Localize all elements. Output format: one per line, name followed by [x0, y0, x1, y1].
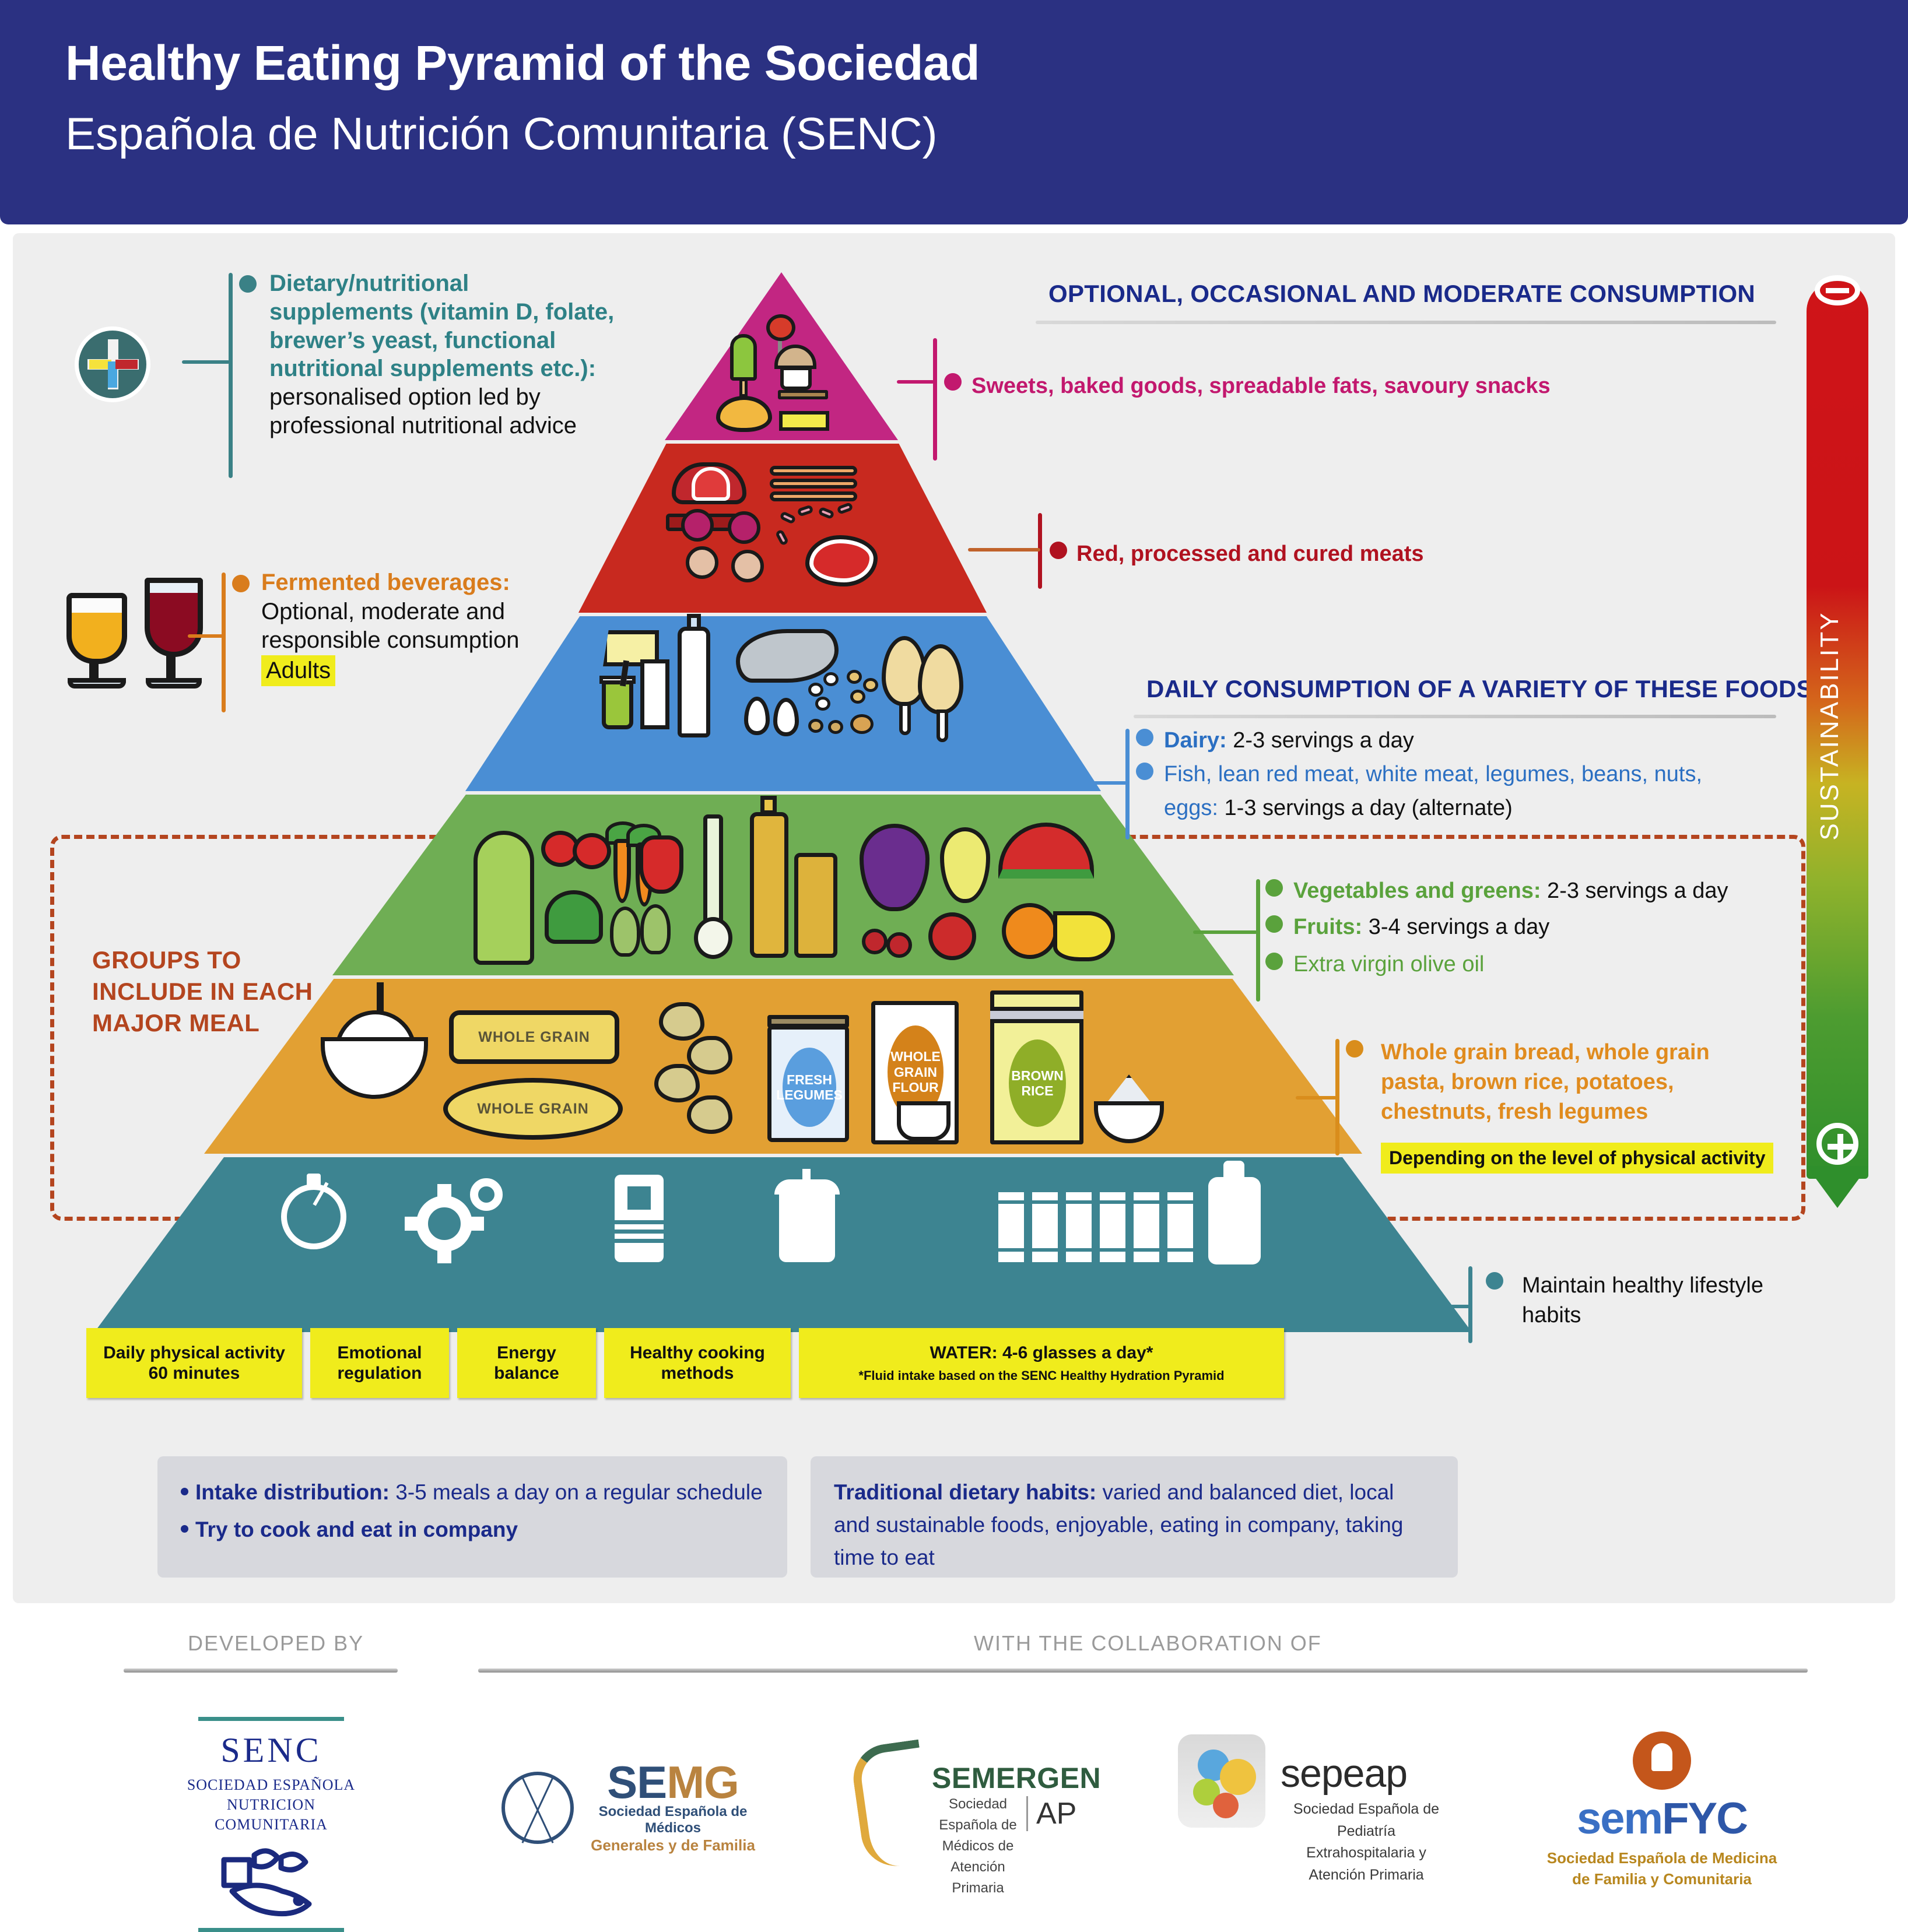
label-grains: Whole grain bread, whole grain pasta, br…: [1381, 1038, 1777, 1127]
logo-semergen-sub: Sociedad Española de Médicos de Atención…: [934, 1794, 1022, 1899]
page-subtitle: Española de Nutrición Comunitaria (SENC): [65, 107, 1908, 161]
lifestyle-bullet-dot: [1486, 1272, 1503, 1290]
note-bullet-2: [181, 1525, 188, 1533]
label-protein-line2: eggs: 1-3 servings a day (alternate): [1164, 794, 1513, 823]
label-sweets: Sweets, baked goods, spreadable fats, sa…: [971, 372, 1551, 401]
label-red-meats: Red, processed and cured meats: [1076, 540, 1424, 568]
label-protein-line1: Fish, lean red meat, white meat, legumes…: [1164, 760, 1702, 789]
vegetables-connector-vertical: [1256, 879, 1260, 1002]
logo-sepeap-sub: Sociedad Española de Pediatría Extrahosp…: [1282, 1798, 1451, 1886]
logo-semg-sub2: Generales y de Familia: [582, 1836, 764, 1854]
vegetables-bullet-dot: [1265, 879, 1283, 897]
page-title: Healthy Eating Pyramid of the Sociedad: [65, 35, 1908, 92]
olive-oil-bullet-dot: [1265, 953, 1283, 970]
lifestyle-connector-horizontal: [1402, 1305, 1469, 1308]
logo-sepeap[interactable]: sepeap Sociedad Española de Pediatría Ex…: [1178, 1734, 1446, 1868]
dairy-bullet-dot: [1136, 729, 1153, 746]
whole-grain-bread-label-1: WHOLE GRAIN: [449, 1010, 619, 1064]
logo-semergen-ap: AP: [1026, 1796, 1076, 1831]
sustainability-scale: SUSTAINABILITY: [1807, 268, 1868, 1218]
label-lifestyle: Maintain healthy lifestyle habits: [1522, 1271, 1767, 1330]
logo-semg-sub1: Sociedad Española de Médicos: [582, 1804, 764, 1836]
food-pyramid: WHOLE GRAIN WHOLE GRAIN FRESHLEGUMES WHO…: [140, 265, 1411, 1408]
whole-grain-bread-label-2: WHOLE GRAIN: [443, 1078, 623, 1140]
logo-semfyc-sub: Sociedad Española de Medicina de Familia…: [1545, 1847, 1779, 1890]
stopwatch-icon: [281, 1184, 346, 1249]
logo-senc-subtitle: SOCIEDAD ESPAÑOLA NUTRICION COMUNITARIA: [187, 1775, 356, 1834]
logo-semfyc-title-a: sem: [1577, 1794, 1662, 1843]
base-label-physical-activity[interactable]: Daily physical activity60 minutes: [86, 1328, 302, 1398]
base-label-cooking-methods[interactable]: Healthy cookingmethods: [604, 1328, 791, 1398]
pyramid-tier-grains[interactable]: WHOLE GRAIN WHOLE GRAIN FRESHLEGUMES WHO…: [204, 979, 1362, 1154]
logo-semfyc[interactable]: semFYC Sociedad Española de Medicina de …: [1545, 1731, 1779, 1890]
sustainability-label: SUSTAINABILITY: [1815, 318, 1844, 1134]
supplement-cross-icon: [75, 326, 150, 402]
pyramid-tier-dairy-protein[interactable]: [465, 616, 1101, 791]
sweets-food-icons: [706, 308, 857, 431]
vegetables-connector-horizontal: [1193, 930, 1257, 934]
pyramid-tier-red-meat[interactable]: [578, 444, 987, 613]
logo-sepeap-title: sepeap: [1281, 1751, 1407, 1796]
fruits-bullet-dot: [1265, 915, 1283, 933]
senc-fish-icon: [216, 1842, 327, 1918]
note-intake-distribution: Intake distribution: 3-5 meals a day on …: [157, 1456, 787, 1578]
grains-food-icons: WHOLE GRAIN WHOLE GRAIN FRESHLEGUMES WHO…: [321, 987, 1248, 1150]
lifestyle-label-row: Daily physical activity60 minutes Emotio…: [86, 1328, 1293, 1398]
logo-semg-title-a: SE: [607, 1757, 667, 1808]
divider-optional: [1036, 321, 1776, 324]
protein-bullet-dot: [1136, 763, 1153, 780]
logo-senc-title: SENC: [187, 1730, 356, 1771]
note-bullet-1: [181, 1488, 188, 1495]
logo-senc[interactable]: SENC SOCIEDAD ESPAÑOLA NUTRICION COMUNIT…: [187, 1717, 356, 1932]
grains-connector-horizontal: [1296, 1096, 1337, 1100]
semg-globe-icon: [501, 1772, 574, 1844]
grains-note-highlight: Depending on the level of physical activ…: [1381, 1143, 1773, 1174]
sweets-connector-vertical: [933, 338, 937, 461]
divider-daily: [1134, 715, 1776, 718]
grains-bullet-dot: [1346, 1040, 1363, 1058]
water-glasses-icon: [998, 1192, 1024, 1262]
label-vegetables: Vegetables and greens: 2-3 servings a da…: [1293, 877, 1728, 905]
cooking-pot-icon: [779, 1188, 835, 1262]
minus-icon: [1815, 275, 1860, 305]
header-daily-consumption: DAILY CONSUMPTION OF A VARIETY OF THESE …: [1146, 675, 1813, 703]
base-label-emotional-regulation[interactable]: Emotionalregulation: [310, 1328, 449, 1398]
meats-bullet-dot: [1050, 542, 1067, 559]
fresh-legumes-pack-label: FRESHLEGUMES: [783, 1048, 836, 1127]
semergen-swoosh-icon: [849, 1740, 935, 1871]
dairy-protein-food-icons: [591, 627, 976, 784]
note-traditional-habits: Traditional dietary habits: varied and b…: [811, 1456, 1458, 1578]
pyramid-tier-lifestyle-base[interactable]: [94, 1157, 1472, 1332]
header-optional-consumption: OPTIONAL, OCCASIONAL AND MODERATE CONSUM…: [1048, 280, 1755, 308]
red-meat-food-icons: [666, 458, 899, 603]
footer-rule-right: [478, 1668, 1808, 1673]
pyramid-tier-vegetables-fruits[interactable]: [332, 795, 1234, 975]
base-label-water[interactable]: WATER: 4-6 glasses a day* *Fluid intake …: [799, 1328, 1284, 1398]
footer-rule-left: [124, 1668, 398, 1673]
semfyc-mark-icon: [1633, 1731, 1691, 1790]
logo-semg-title-b: MG: [667, 1757, 739, 1808]
sweets-connector-horizontal: [897, 380, 934, 384]
vegetables-fruits-food-icons: [470, 803, 1100, 972]
base-label-energy-balance[interactable]: Energybalance: [457, 1328, 596, 1398]
brown-rice-pack-label: BROWNRICE: [1009, 1039, 1066, 1127]
label-fruits: Fruits: 3-4 servings a day: [1293, 913, 1549, 942]
label-dairy: Dairy: 2-3 servings a day: [1164, 726, 1414, 755]
lifestyle-icons-row: [269, 1171, 1296, 1264]
meats-connector-horizontal: [968, 548, 1040, 552]
pyramid-tier-sweets[interactable]: [665, 265, 898, 440]
gears-icon: [416, 1196, 472, 1252]
logo-semergen-title: SEMERGEN: [932, 1761, 1101, 1795]
page-header: Healthy Eating Pyramid of the Sociedad E…: [0, 0, 1908, 224]
footer-collaboration-label: WITH THE COLLABORATION OF: [974, 1631, 1322, 1656]
logo-semergen[interactable]: SEMERGEN Sociedad Española de Médicos de…: [857, 1740, 1090, 1874]
dairy-connector-horizontal: [1090, 781, 1127, 785]
sweets-bullet-dot: [944, 373, 962, 391]
logo-semfyc-title-b: FYC: [1662, 1794, 1747, 1843]
footer-developed-by-label: DEVELOPED BY: [188, 1631, 364, 1656]
logo-semg[interactable]: SEMG Sociedad Española de Médicos Genera…: [501, 1761, 764, 1854]
label-olive-oil: Extra virgin olive oil: [1293, 950, 1484, 979]
